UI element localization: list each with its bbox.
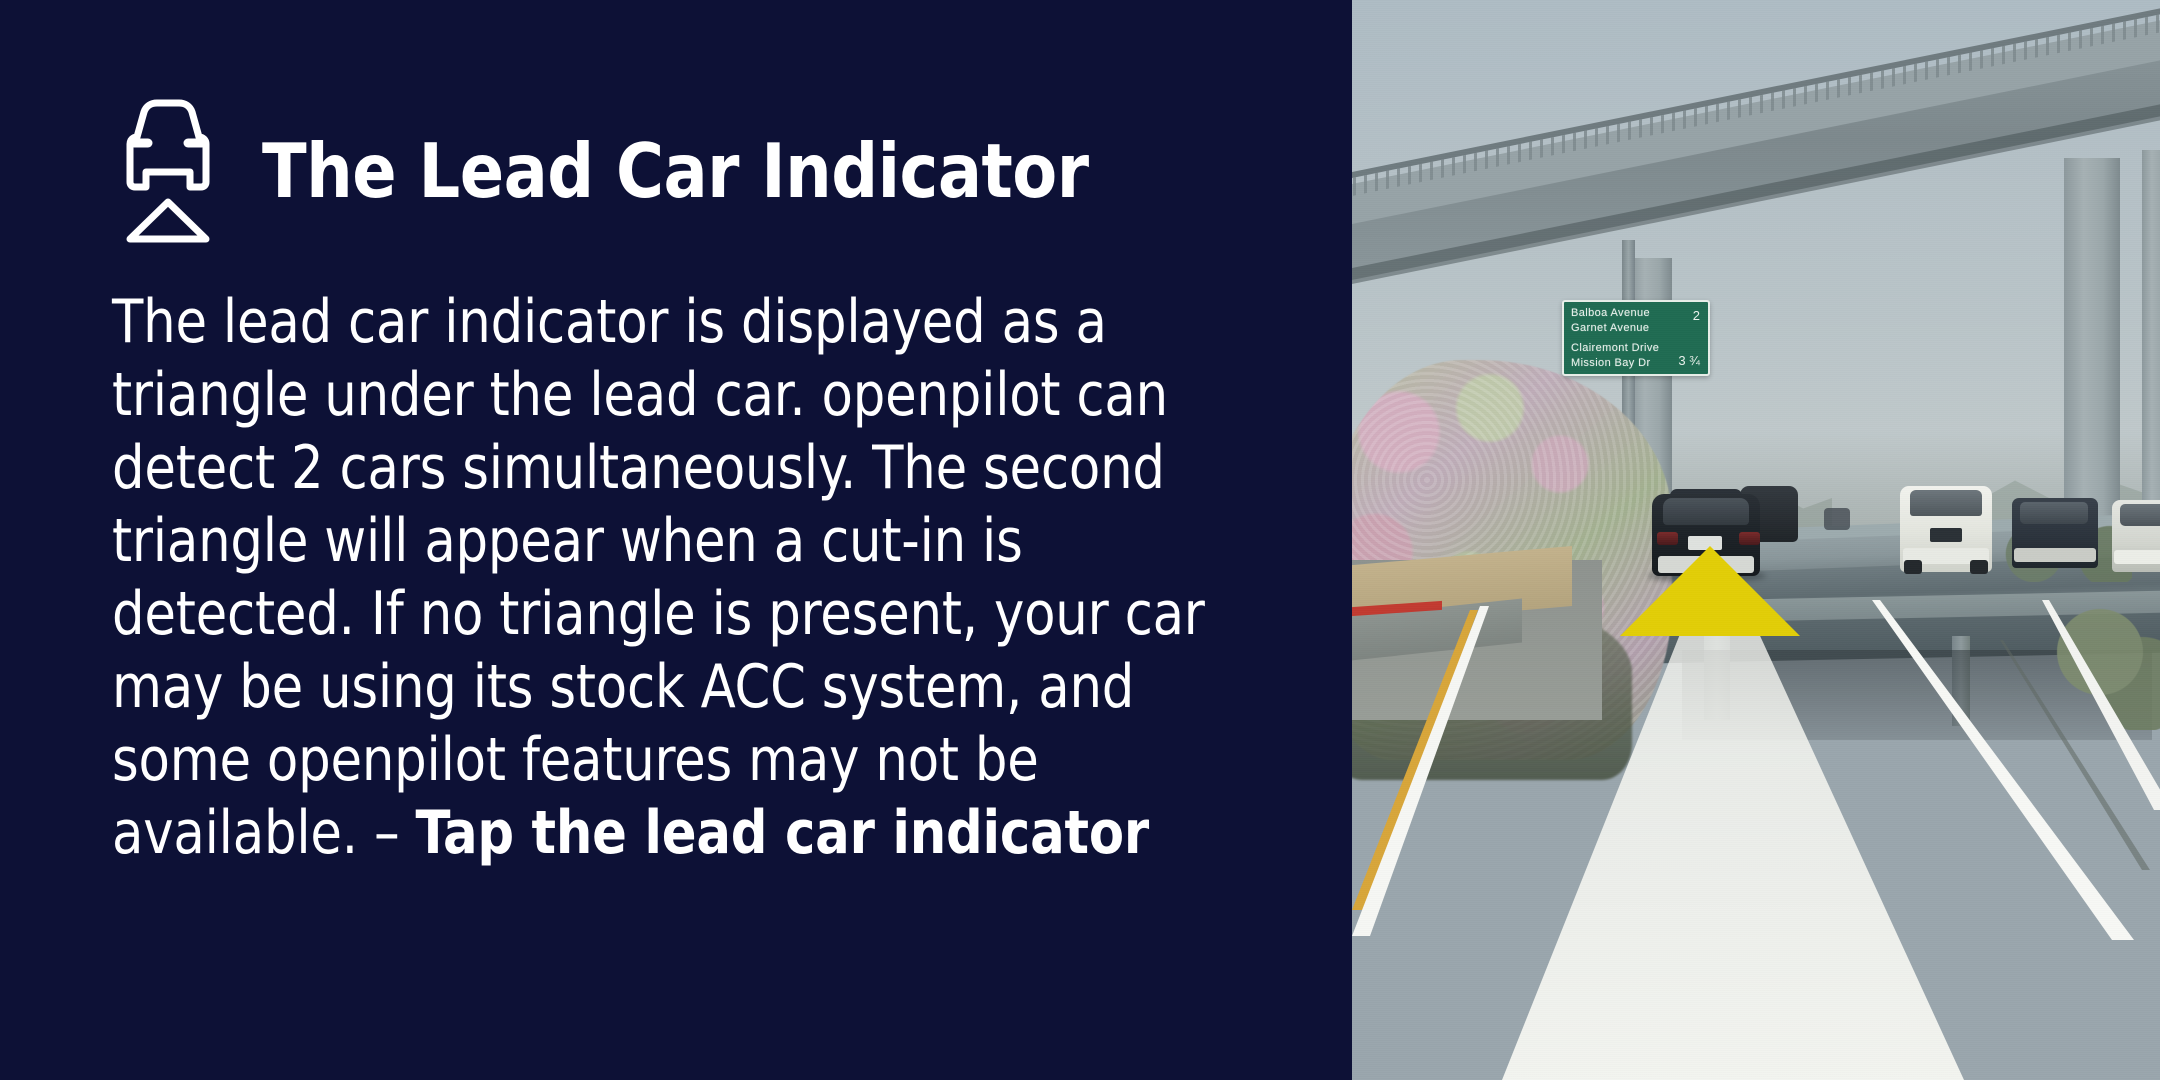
sign-line-clairemont: Clairemont Drive — [1571, 342, 1659, 355]
panel-description: The lead car indicator is displayed as a… — [112, 286, 1214, 870]
white-suv-license-plate — [1930, 528, 1962, 542]
highway-sign-destinations: Balboa Avenue Garnet Avenue Clairemont D… — [1571, 307, 1659, 370]
white-suv-wheel-right — [1970, 560, 1988, 574]
highway-sign-distances: 2 3 ¾ — [1678, 307, 1702, 370]
lead-vehicle-taillight-right — [1739, 532, 1760, 545]
lead-car-triangle-overlay[interactable] — [1620, 546, 1800, 636]
tutorial-card: The Lead Car Indicator The lead car indi… — [0, 0, 2160, 1080]
description-text: The lead car indicator is displayed as a… — [112, 287, 1205, 868]
distant-vehicle — [1824, 508, 1850, 530]
silver-suv-bumper — [2114, 550, 2160, 564]
sign-line-missionbay: Mission Bay Dr — [1571, 357, 1659, 370]
sign-distance-top: 2 — [1693, 309, 1700, 323]
silver-suv-rear-window — [2120, 504, 2160, 526]
info-panel: The Lead Car Indicator The lead car indi… — [0, 0, 1352, 1080]
sign-distance-bottom: 3 ¾ — [1678, 354, 1700, 368]
lead-vehicle-rear-window — [1663, 498, 1749, 525]
blue-vehicle-rear-window — [2020, 502, 2088, 524]
description-emphasis: Tap the lead car indicator — [415, 798, 1149, 868]
panel-header: The Lead Car Indicator — [112, 96, 1352, 246]
dashcam-photo: Balboa Avenue Garnet Avenue Clairemont D… — [1352, 0, 2160, 1080]
white-suv-wheel-left — [1904, 560, 1922, 574]
sign-line-garnet: Garnet Avenue — [1571, 322, 1659, 335]
lead-car-indicator-icon — [112, 96, 224, 246]
white-suv-rear-window — [1910, 490, 1982, 516]
blue-vehicle-bumper — [2014, 548, 2096, 562]
lead-vehicle-taillight-left — [1657, 532, 1678, 545]
sign-line-balboa: Balboa Avenue — [1571, 307, 1659, 320]
page-title: The Lead Car Indicator — [262, 131, 1089, 211]
highway-guide-sign: Balboa Avenue Garnet Avenue Clairemont D… — [1562, 300, 1710, 376]
